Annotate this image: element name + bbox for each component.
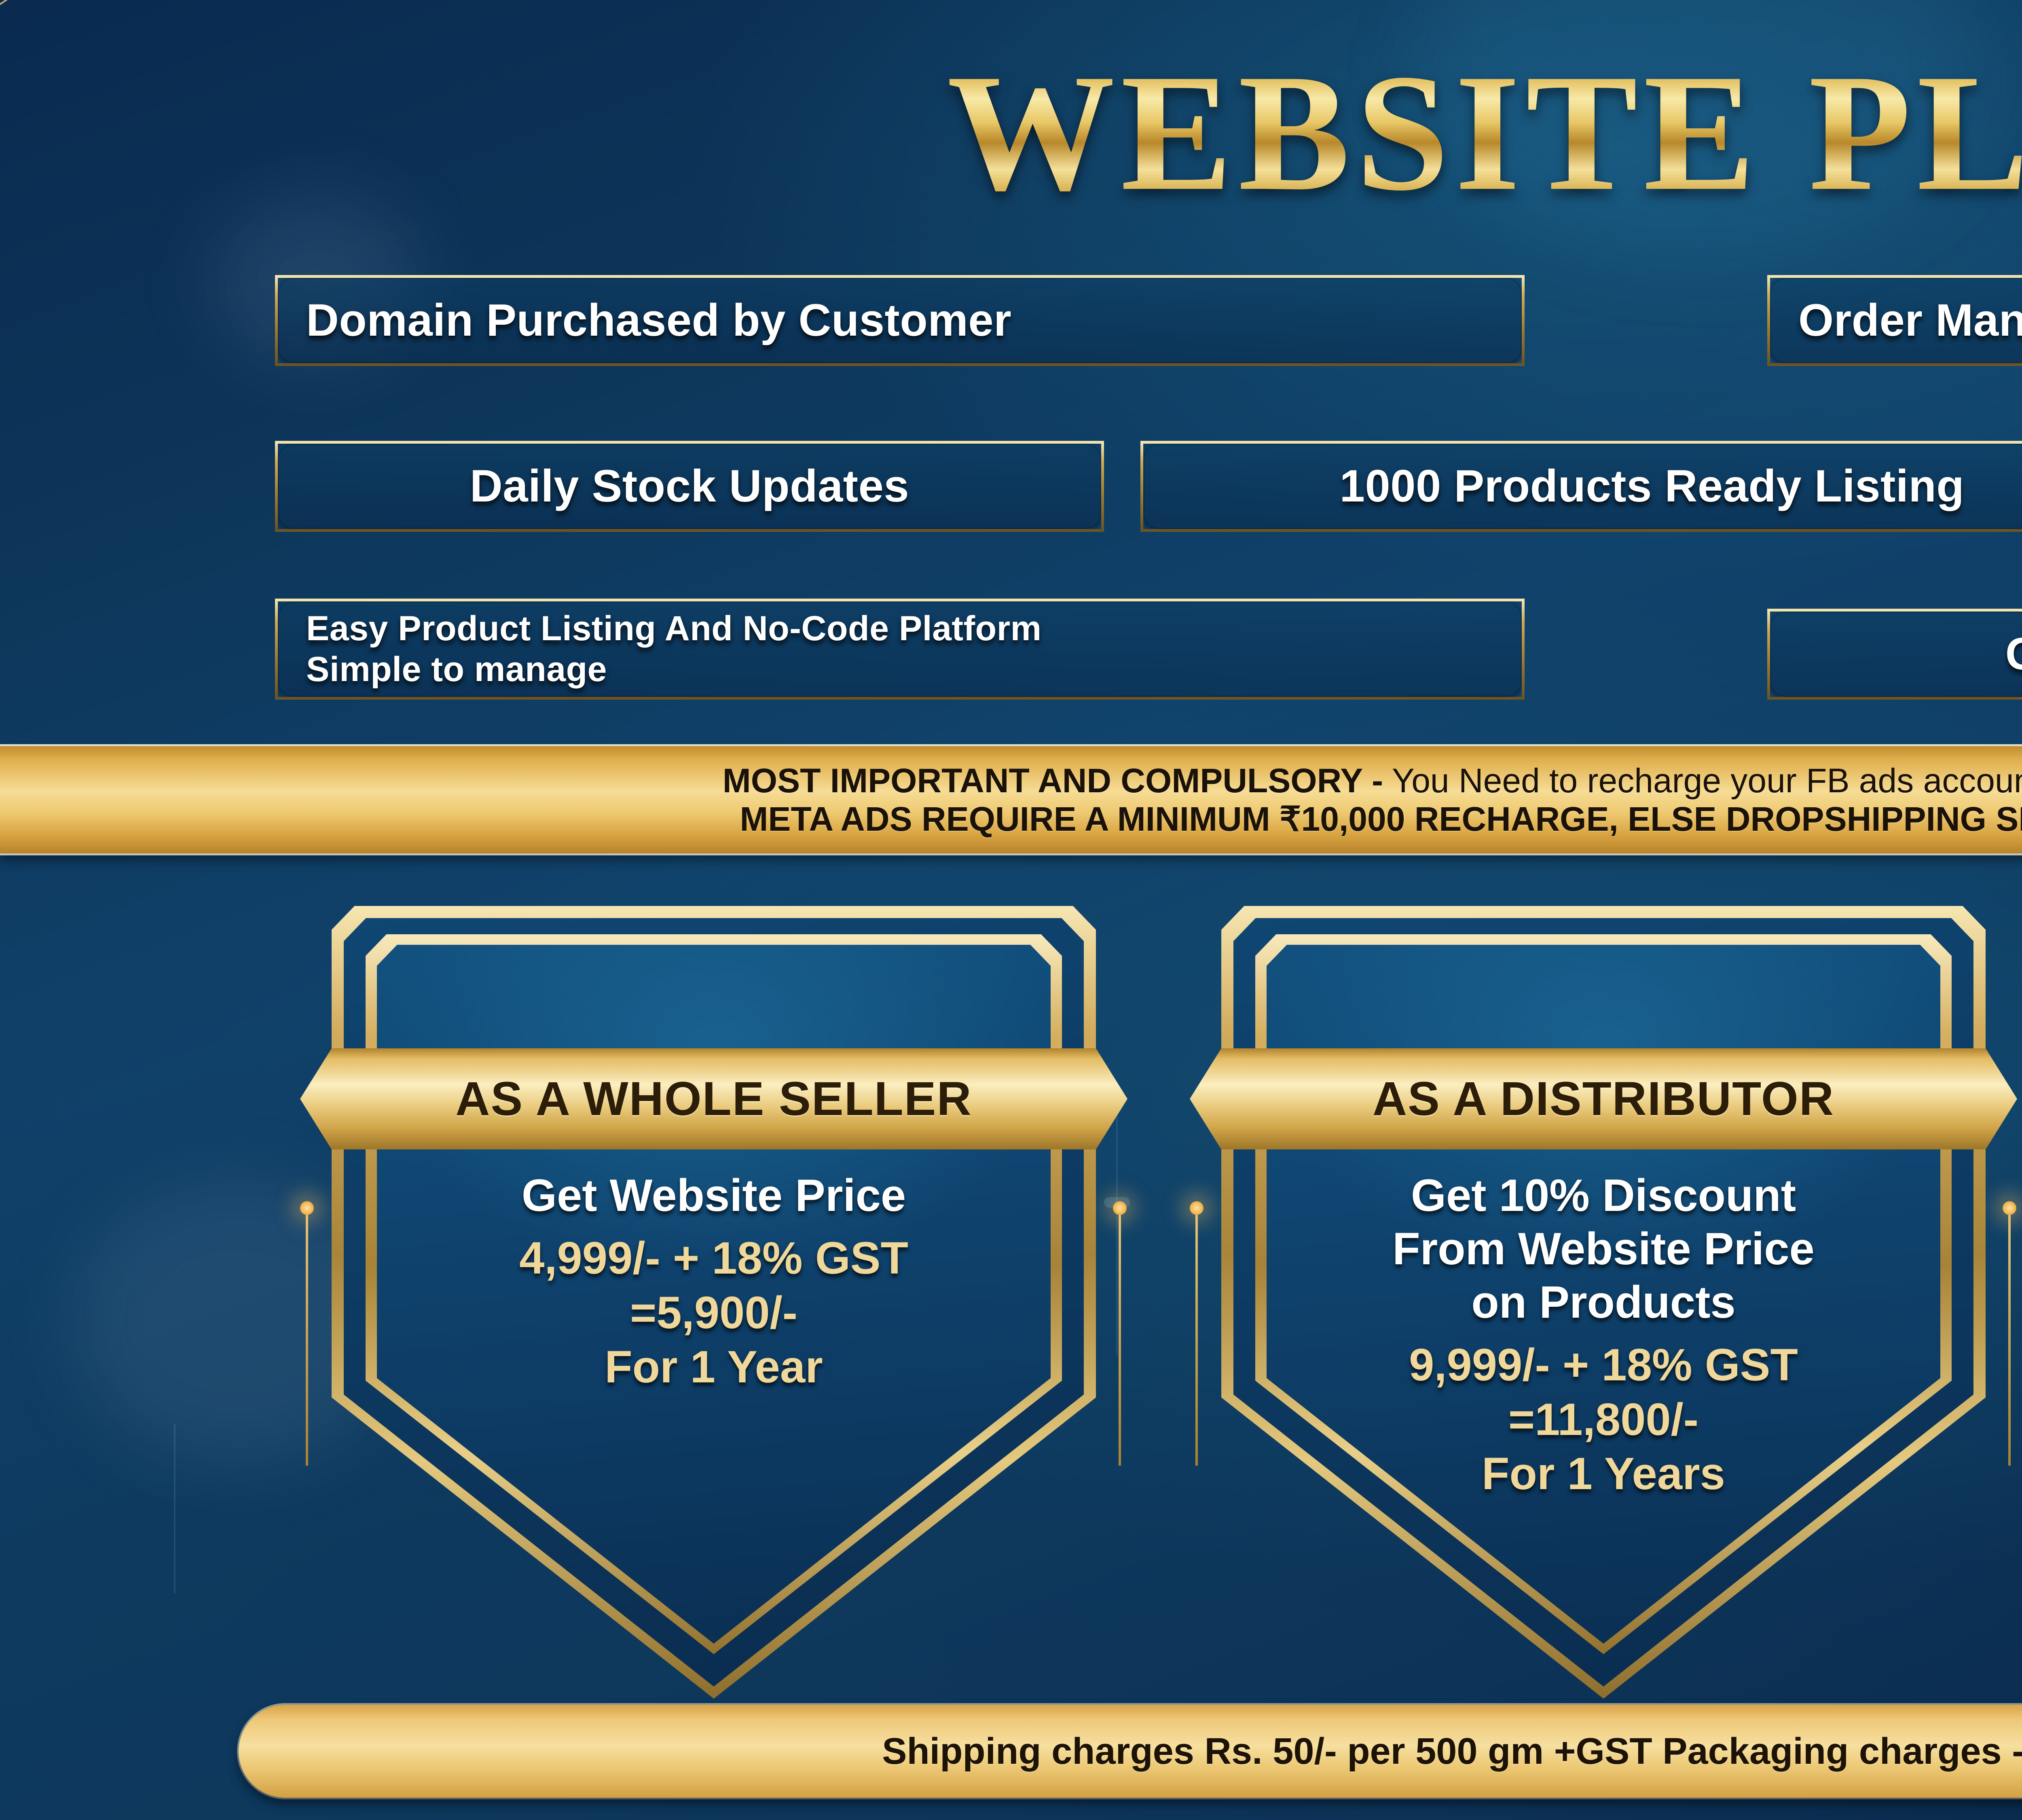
plan-ribbon-label: AS A DISTRIBUTOR bbox=[1373, 1071, 1834, 1126]
notice-line-2: META ADS REQUIRE A MINIMUM ₹10,000 RECHA… bbox=[740, 800, 2022, 838]
plan-price: 4,999/- + 18% GST =5,900/- For 1 Year bbox=[408, 1231, 1019, 1394]
glow-pin-dot bbox=[300, 1201, 314, 1215]
glow-pin-right bbox=[2003, 1201, 2016, 1466]
plan-price-line-3: For 1 Years bbox=[1298, 1447, 1909, 1501]
plan-description: Get Website Price bbox=[408, 1169, 1019, 1222]
plan-price-line-2: =5,900/- bbox=[408, 1286, 1019, 1340]
shipping-charges-label: Shipping charges Rs. 50/- per 500 gm +GS… bbox=[882, 1730, 2022, 1773]
glow-pin-dot bbox=[1113, 1201, 1127, 1215]
plan-card-whole-seller[interactable]: AS A WHOLE SELLER Get Website Price 4,99… bbox=[332, 906, 1096, 1699]
feature-label: Domain Purchased by Customer bbox=[278, 296, 1028, 345]
shipping-charges-banner: Shipping charges Rs. 50/- per 500 gm +GS… bbox=[239, 1705, 2022, 1798]
feature-box-google-ads-meta-pixel[interactable]: Google Ads & Meta Pixel Integration bbox=[1767, 609, 2022, 700]
notice-line-1-rest: You Need to recharge your FB ads account… bbox=[1383, 762, 2022, 800]
plan-ribbon: AS A WHOLE SELLER bbox=[300, 1048, 1127, 1149]
plan-body: Get Website Price 4,999/- + 18% GST =5,9… bbox=[408, 1169, 1019, 1394]
plan-price-line-3: For 1 Year bbox=[408, 1340, 1019, 1394]
feature-box-daily-stock-updates[interactable]: Daily Stock Updates bbox=[275, 441, 1104, 532]
poster-canvas: WEBSITE PLAN Domain Purchased by Custome… bbox=[0, 0, 2022, 1820]
glow-pin-dot bbox=[1190, 1201, 1203, 1215]
plan-price-line-1: 4,999/- + 18% GST bbox=[408, 1231, 1019, 1285]
glow-pin-stem bbox=[1119, 1215, 1121, 1466]
page-title: WEBSITE PLAN bbox=[0, 49, 2022, 216]
plan-ribbon-label: AS A WHOLE SELLER bbox=[455, 1071, 972, 1126]
circuit-trace-left-bottom bbox=[174, 1424, 176, 1594]
notice-line-1: MOST IMPORTANT AND COMPULSORY - You Need… bbox=[723, 762, 2022, 800]
feature-label: Daily Stock Updates bbox=[278, 462, 1101, 510]
feature-label: Order Management Panel bbox=[1770, 296, 2022, 345]
glow-pin-left bbox=[1190, 1201, 1203, 1466]
glow-pin-stem bbox=[2008, 1215, 2011, 1466]
glow-pin-dot bbox=[2003, 1201, 2016, 1215]
plan-price-line-2: =11,800/- bbox=[1298, 1393, 1909, 1447]
feature-label: 1000 Products Ready Listing bbox=[1143, 462, 2022, 510]
glow-pin-left bbox=[300, 1201, 314, 1466]
plan-price: 9,999/- + 18% GST =11,800/- For 1 Years bbox=[1298, 1338, 1909, 1501]
plan-description: Get 10% Discount From Website Price on P… bbox=[1298, 1169, 1909, 1329]
plan-body: Get 10% Discount From Website Price on P… bbox=[1298, 1169, 1909, 1501]
important-notice-banner: MOST IMPORTANT AND COMPULSORY - You Need… bbox=[0, 746, 2022, 853]
plan-ribbon: AS A DISTRIBUTOR bbox=[1190, 1048, 2017, 1149]
glow-pin-stem bbox=[306, 1215, 308, 1466]
feature-label: Google Ads & Meta Pixel Integration bbox=[1770, 630, 2022, 678]
feature-label: Easy Product Listing And No-Code Platfor… bbox=[278, 608, 1058, 690]
feature-box-easy-product-listing[interactable]: Easy Product Listing And No-Code Platfor… bbox=[275, 599, 1525, 700]
feature-box-order-management[interactable]: Order Management Panel bbox=[1767, 275, 2022, 366]
notice-line-1-strong: MOST IMPORTANT AND COMPULSORY - bbox=[723, 762, 1383, 800]
glow-pin-right bbox=[1113, 1201, 1127, 1466]
feature-box-domain-purchased[interactable]: Domain Purchased by Customer bbox=[275, 275, 1525, 366]
plan-price-line-1: 9,999/- + 18% GST bbox=[1298, 1338, 1909, 1392]
feature-box-1000-products[interactable]: 1000 Products Ready Listing bbox=[1140, 441, 2022, 532]
plan-card-distributor[interactable]: AS A DISTRIBUTOR Get 10% Discount From W… bbox=[1221, 906, 1986, 1699]
glow-pin-stem bbox=[1195, 1215, 1198, 1466]
